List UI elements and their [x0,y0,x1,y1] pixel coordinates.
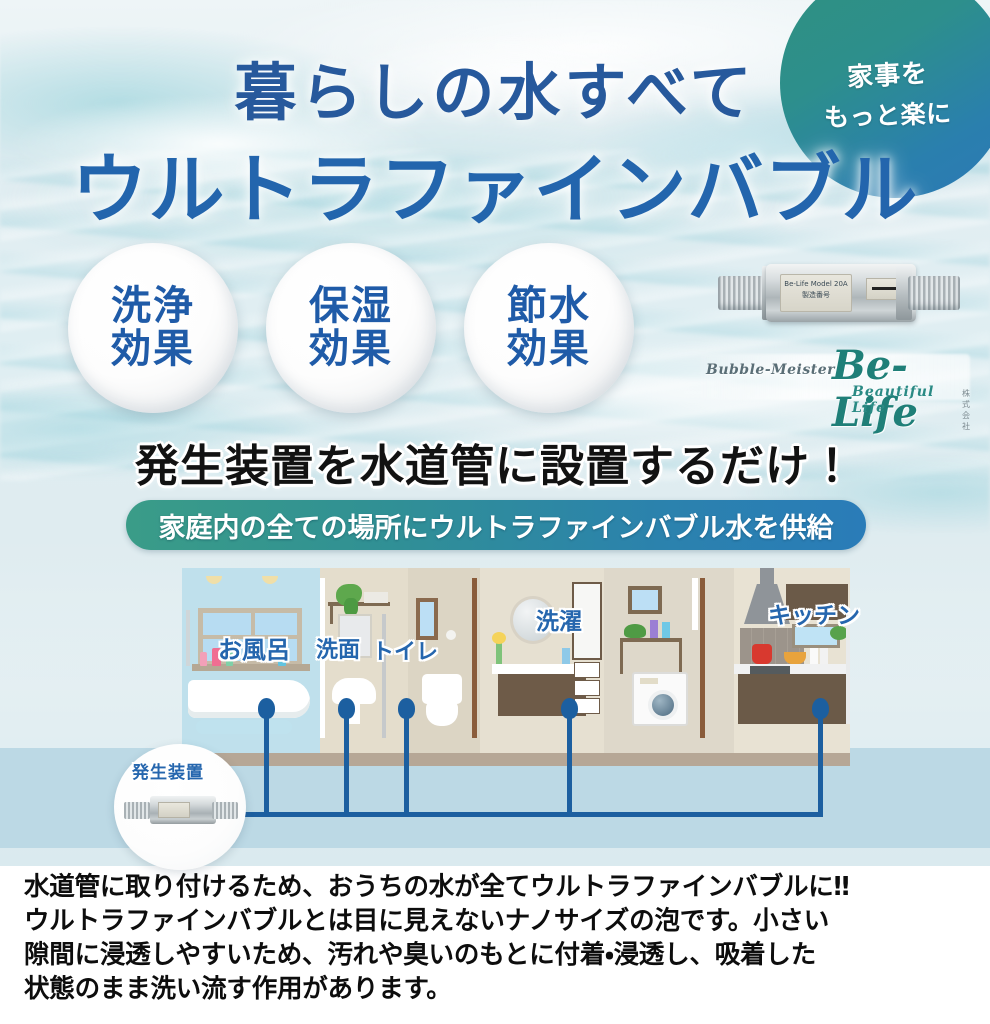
pipe-branch-washbasin [344,706,349,814]
toilet-bowl [426,700,458,726]
vanity-flower-icon [492,632,506,644]
kitchen-bottle-icon [810,648,818,664]
effect-circle-cleaning-bottom: 効果 [111,328,195,371]
pot-icon [784,652,806,664]
wash-pipe [382,614,386,738]
effect-circle-moisturizing-bottom: 効果 [309,328,393,371]
product-device-photo: Be-Life Model 20A 製造番号 Bubble-Meister Be… [700,248,970,423]
pipe-node-bath [258,698,275,719]
bath-window-sill [192,664,310,671]
effect-circle-water-saving: 節水 効果 [464,243,634,413]
room-label-kitchen: キッチン [768,596,860,630]
install-headline: 発生装置を水道管に設置するだけ！ [0,430,990,494]
pipe-branch-bath [264,706,269,814]
pipe-branch-kitchen [818,706,823,814]
bath-bottle-icon [200,652,207,666]
laundry-mirror [628,586,662,614]
generator-label: 発生装置 [132,758,204,783]
generator-faceplate [158,802,190,818]
effect-circle-cleaning-top: 洗浄 [111,285,195,328]
description-line-4: 状態のまま洗い流す作用があります。 [24,972,976,1006]
bath-lamp-icon [262,576,278,584]
effect-circle-moisturizing-top: 保湿 [309,285,393,328]
room-vanity [480,568,604,753]
kitchen-bottle-icon [820,648,828,664]
pipe-branch-laundry [567,706,572,814]
room-label-bath: お風呂 [218,630,290,665]
washing-machine [632,672,688,726]
washer-door-icon [648,690,678,720]
bathtub [188,680,310,718]
room-label-toilet: トイレ [372,634,438,666]
laundry-rack-leg [679,638,682,674]
pipe-main-line [217,812,823,817]
generator-device-photo [124,790,238,830]
room-pillar [700,578,705,738]
room-label-washbasin: 洗面 [316,632,360,664]
pipe-node-laundry [561,698,578,719]
device-thread-right [908,276,960,310]
pipe-node-toilet [398,698,415,719]
laundry-rack-leg [620,638,623,674]
bath-lamp-icon [206,576,222,584]
generator-thread-right [212,802,238,819]
washbasin-sink [332,678,376,704]
towel-icon [364,592,388,603]
bath-mat [196,720,292,734]
range-hood-duct [760,568,774,586]
laundry-rack-shelf [620,638,682,642]
effect-circle-moisturizing: 保湿 効果 [266,243,436,413]
supply-banner-text: 家庭内の全ての場所にウルトラファインバブル水を供給 [159,506,834,545]
generator-thread-left [124,802,150,819]
shower-pipe-icon [186,610,190,666]
description-line-3: 隙間に浸透しやすいため、汚れや臭いのもとに付着・浸透し、吸着した [24,938,976,972]
generator-callout: 発生装置 [114,744,246,870]
stove-top-icon [750,666,790,674]
headline-line2: ウルトラファインバブル [0,128,990,238]
effect-circle-water-saving-top: 節水 [507,285,591,328]
brand-logo: Bubble-Meister Be-Life Beautiful Life 株式… [700,340,970,410]
washer-panel [640,678,658,684]
pipe-branch-toilet [404,706,409,814]
description-line-1: 水道管に取り付けるため、おうちの水が全てウルトラファインバブルに‼ [24,870,976,904]
effect-circle-water-saving-bottom: 効果 [507,328,591,371]
description-block: 水道管に取り付けるため、おうちの水が全てウルトラファインバブルに‼ ウルトラファ… [24,870,976,1007]
pipe-node-washbasin [338,698,355,719]
room-label-laundry: 洗濯 [536,602,582,636]
room-pillar [472,578,477,738]
supply-banner: 家庭内の全ての場所にウルトラファインバブル水を供給 [126,500,866,550]
kettle-icon [752,644,772,664]
vanity-drawer [574,662,600,678]
effect-circle-cleaning: 洗浄 効果 [68,243,238,413]
brand-tagline: Beautiful Life [852,384,970,416]
wash-shelf-bracket [330,602,333,624]
brand-prefix: Bubble-Meister [706,362,835,378]
laundry-plant-icon [624,624,646,638]
device-label: Be-Life Model 20A 製造番号 [780,274,852,312]
curtain-rail [692,578,698,630]
headline-line1: 暮らしの水すべて [0,42,990,132]
description-line-2: ウルトラファインバブルとは目に見えないナノサイズの泡です。小さい [24,904,976,938]
pipe-node-kitchen [812,698,829,719]
device-illustration: Be-Life Model 20A 製造番号 [718,254,958,332]
vanity-bottle-icon [562,648,570,664]
toilet-paper-icon [446,630,456,640]
brand-company: 株式会社 [962,388,970,432]
effect-circle-group: 洗浄 効果 保湿 効果 節水 効果 [68,243,638,413]
vanity-drawer [574,680,600,696]
kitchen-lower-cabinet [738,674,846,724]
detergent-bottle-icon [650,620,658,638]
detergent-bottle-icon [662,622,670,638]
room-laundry [604,568,734,753]
